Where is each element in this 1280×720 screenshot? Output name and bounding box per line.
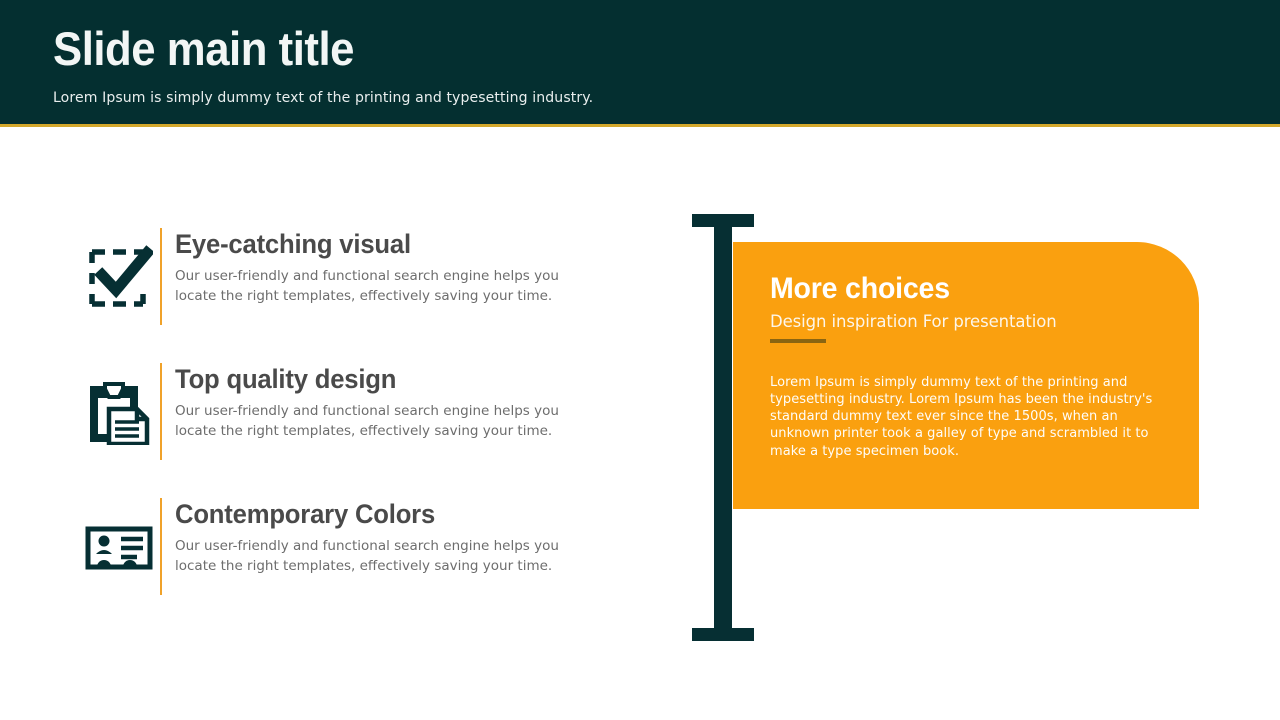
feature-divider xyxy=(160,498,162,595)
feature-description: Our user-friendly and functional search … xyxy=(175,537,595,575)
feature-body: Eye-catching visual Our user-friendly an… xyxy=(175,228,605,306)
clipboard-document-icon xyxy=(85,377,153,445)
feature-title: Eye-catching visual xyxy=(175,228,584,260)
feature-divider xyxy=(160,363,162,460)
panel-description: Lorem Ipsum is simply dummy text of the … xyxy=(770,374,1168,460)
feature-body: Contemporary Colors Our user-friendly an… xyxy=(175,498,605,576)
checkmark-dashed-box-icon xyxy=(85,242,153,310)
i-beam-bottom-bar xyxy=(692,628,754,641)
feature-description: Our user-friendly and functional search … xyxy=(175,402,595,440)
panel-subtitle: Design inspiration For presentation xyxy=(770,312,1057,332)
feature-title: Contemporary Colors xyxy=(175,498,584,530)
feature-divider xyxy=(160,228,162,325)
feature-list: Eye-catching visual Our user-friendly an… xyxy=(0,0,640,720)
panel-title: More choices xyxy=(770,272,950,306)
feature-description: Our user-friendly and functional search … xyxy=(175,267,595,305)
feature-title: Top quality design xyxy=(175,363,584,395)
slide-canvas: Slide main title Lorem Ipsum is simply d… xyxy=(0,0,1280,720)
i-beam-stem xyxy=(714,226,732,629)
panel-accent-rule xyxy=(770,339,826,343)
id-card-icon xyxy=(85,512,153,580)
more-choices-panel[interactable]: More choices Design inspiration For pres… xyxy=(733,242,1199,509)
feature-body: Top quality design Our user-friendly and… xyxy=(175,363,605,441)
